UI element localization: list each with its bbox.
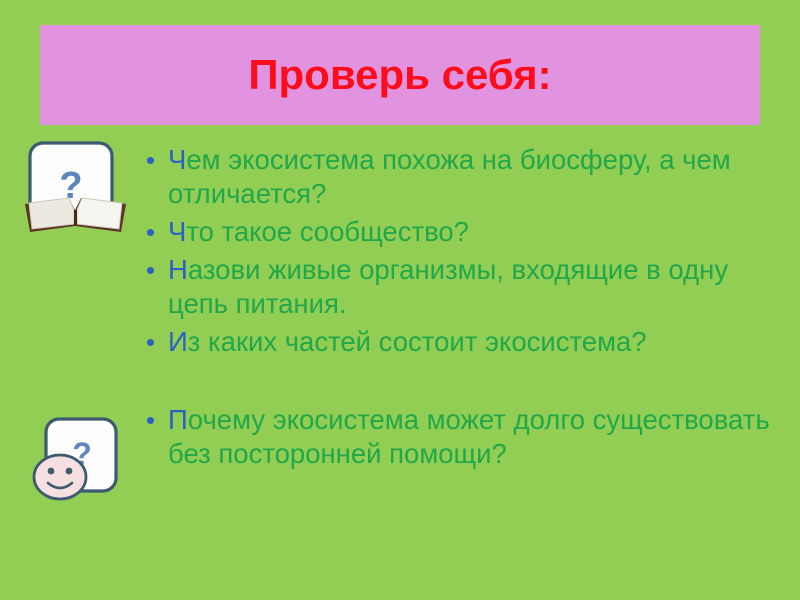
list-item-label: то такое сообщество? [186,216,469,247]
bullet-marker-icon [147,267,154,274]
title-banner: Проверь себя: [40,25,760,125]
list-item: Назови живые организмы, входящие в одну … [140,253,770,321]
list-item: Чем экосистема похожа на биосферу, а чем… [140,143,770,211]
list-item-initial: И [168,326,188,357]
bullet-marker-icon [147,157,154,164]
list-item: Что такое сообщество? [140,215,770,249]
list-item: Из каких частей состоит экосистема? [140,325,770,359]
list-item-initial: Н [168,254,188,285]
list-item-label: ем экосистема похожа на биосферу, а чем … [168,144,731,209]
bullet-marker-icon [147,339,154,346]
bullet-marker-icon [147,229,154,236]
list-item-label: азови живые организмы, входящие в одну ц… [168,254,728,319]
list-item-initial: Ч [168,144,186,175]
list-item-initial: Ч [168,216,186,247]
list-item: Почему экосистема может долго существова… [140,403,770,471]
slide-canvas: Проверь себя: ? ? [0,0,800,600]
list-item-label: очему экосистема может долго существоват… [168,404,770,469]
list-item-initial: П [168,404,188,435]
smiley-question-icon: ? [30,415,130,511]
book-question-icon: ? [22,140,130,245]
list-item-label: з каких частей состоит экосистема? [188,326,647,357]
question-list: Чем экосистема похожа на биосферу, а чем… [140,143,770,475]
page-title: Проверь себя: [248,54,551,96]
bullet-marker-icon [147,417,154,424]
